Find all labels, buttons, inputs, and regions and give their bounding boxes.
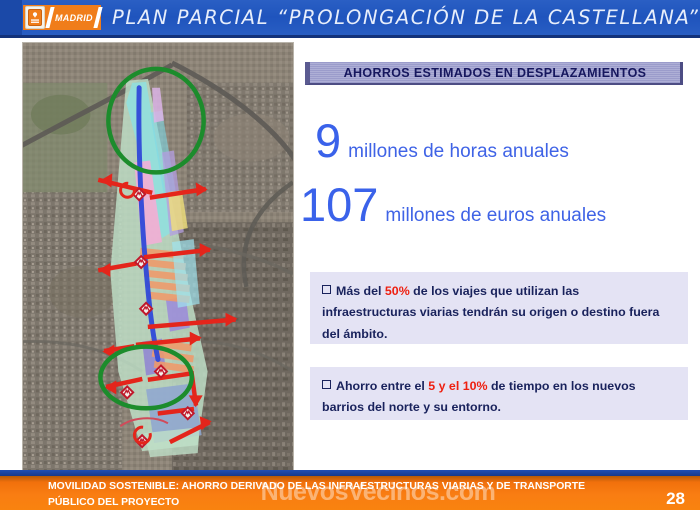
- info-box-1-text-before: Más del: [336, 284, 385, 298]
- info-box-2-text-before: Ahorro entre el: [336, 379, 428, 393]
- page-number: 28: [666, 489, 685, 509]
- madrid-coat-of-arms-icon: [25, 6, 45, 29]
- madrid-logo-label: MADRID: [55, 13, 93, 23]
- stat-hours-saved: 9 millones de horas anuales: [315, 117, 569, 164]
- stat-hours-number: 9: [315, 117, 341, 164]
- app-header: MADRID PLAN PARCIAL “PROLONGACIÓN DE LA …: [0, 0, 700, 38]
- info-box-1-highlight: 50%: [385, 284, 410, 298]
- satellite-map-panel[interactable]: [22, 42, 294, 472]
- stat-euros-label: millones de euros anuales: [385, 205, 606, 227]
- section-banner-title: AHORROS ESTIMADOS EN DESPLAZAMIENTOS: [344, 66, 647, 80]
- bullet-square-icon: [322, 380, 331, 389]
- footer-caption: MOVILIDAD SOSTENIBLE: AHORRO DERIVADO DE…: [48, 479, 588, 511]
- logo-slash-left-icon: [45, 7, 54, 28]
- info-box-trip-origin: Más del 50% de los viajes que utilizan l…: [310, 272, 688, 344]
- stat-hours-label: millones de horas anuales: [348, 141, 569, 163]
- info-box-2-highlight: 5 y el 10%: [428, 379, 487, 393]
- section-banner: AHORROS ESTIMADOS EN DESPLAZAMIENTOS: [305, 62, 683, 85]
- stat-euros-saved: 107 millones de euros anuales: [300, 181, 606, 228]
- logo-slash-right-icon: [93, 7, 102, 28]
- info-box-time-saving: Ahorro entre el 5 y el 10% de tiempo en …: [310, 367, 688, 420]
- stat-euros-number: 107: [300, 181, 378, 228]
- page-title: PLAN PARCIAL “PROLONGACIÓN DE LA CASTELL…: [112, 0, 700, 35]
- bullet-square-icon: [322, 285, 331, 294]
- satellite-map-image: [23, 43, 293, 471]
- footer-bottom-edge: [0, 510, 700, 517]
- madrid-logo: MADRID: [23, 5, 101, 30]
- header-left-notch: [0, 0, 22, 38]
